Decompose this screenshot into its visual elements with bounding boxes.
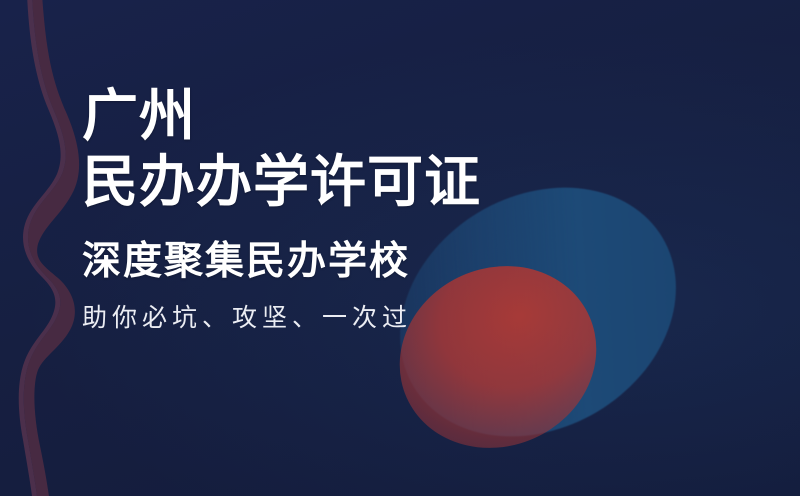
subtitle-text: 深度聚集民办学校 — [82, 214, 602, 285]
promo-banner: 广州 民办办学许可证 深度聚集民办学校 助你必坑、攻坚、一次过 — [0, 0, 800, 496]
headline-line-2: 民办办学许可证 — [82, 152, 602, 214]
text-content-block: 广州 民办办学许可证 深度聚集民办学校 助你必坑、攻坚、一次过 — [82, 86, 602, 335]
tagline-text: 助你必坑、攻坚、一次过 — [82, 285, 602, 335]
headline-line-1: 广州 — [82, 86, 602, 148]
